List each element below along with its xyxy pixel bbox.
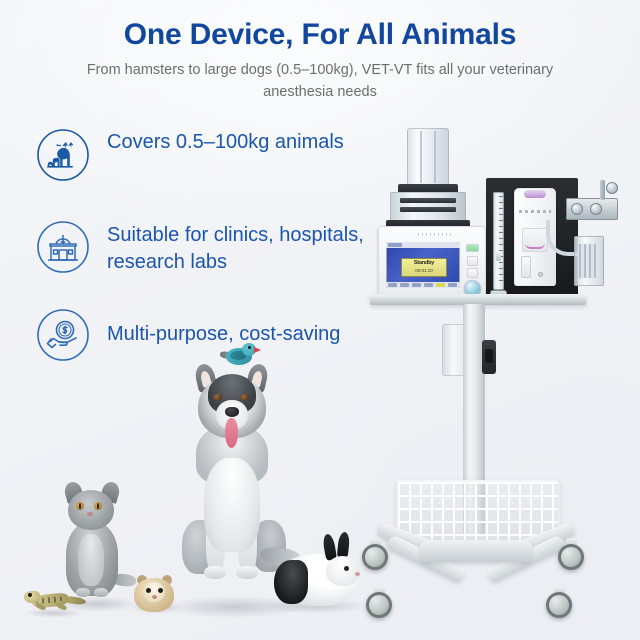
animal-bird <box>220 342 262 372</box>
status-title: Standby <box>402 260 446 266</box>
monitor-vent <box>418 233 452 236</box>
veterinary-anesthesia-machine: Standby 00:01:10 <box>360 108 640 640</box>
clinic-building-circle-icon <box>34 218 92 276</box>
screen-softkeys[interactable] <box>386 282 460 288</box>
power-led-icon <box>466 244 479 252</box>
status-dialog: Standby 00:01:10 <box>401 258 447 277</box>
feature-label: Suitable for clinics, hospitals, researc… <box>107 218 379 275</box>
animals-circle-icon <box>34 126 92 184</box>
manifold-knob-2[interactable] <box>590 203 602 215</box>
product-banner: One Device, For All Animals From hamster… <box>0 0 640 640</box>
page-subtitle: From hamsters to large dogs (0.5–100kg),… <box>72 59 568 103</box>
caster-wheel <box>546 592 572 618</box>
vaporizer-sight-glass <box>521 256 531 278</box>
screen-topbar <box>386 242 460 248</box>
monitor-button-down[interactable] <box>467 268 478 278</box>
manifold-stem <box>600 180 605 200</box>
page-title: One Device, For All Animals <box>0 18 640 51</box>
animal-gecko <box>24 584 86 616</box>
status-sub: 00:01:10 <box>402 268 446 273</box>
feature-label: Covers 0.5–100kg animals <box>107 126 344 156</box>
animal-hamster <box>132 572 178 614</box>
base-hub <box>420 540 532 562</box>
vaporizer-fill-port <box>538 272 543 277</box>
manifold-knob-3[interactable] <box>606 182 618 194</box>
manifold-knob-1[interactable] <box>571 203 583 215</box>
feature-item-facilities: Suitable for clinics, hospitals, researc… <box>34 218 379 276</box>
absorber-canister <box>574 236 604 286</box>
device-screen: Standby 00:01:10 <box>386 242 460 288</box>
feature-item-coverage: Covers 0.5–100kg animals <box>34 126 344 184</box>
vaporizer-dial[interactable] <box>524 190 546 198</box>
monitor-button-up[interactable] <box>467 256 478 266</box>
vaporizer-window <box>522 228 548 252</box>
control-monitor: Standby 00:01:10 <box>378 226 486 298</box>
pole-clamp[interactable] <box>482 340 496 374</box>
vaporizer-label <box>519 210 551 213</box>
caster-wheel <box>558 544 584 570</box>
absorber-granules <box>579 244 599 278</box>
bellows-chamber <box>407 128 449 186</box>
bellows-base <box>390 192 466 222</box>
animal-group <box>20 340 380 640</box>
animal-rabbit <box>268 536 364 614</box>
flowmeter-tube <box>493 192 504 290</box>
